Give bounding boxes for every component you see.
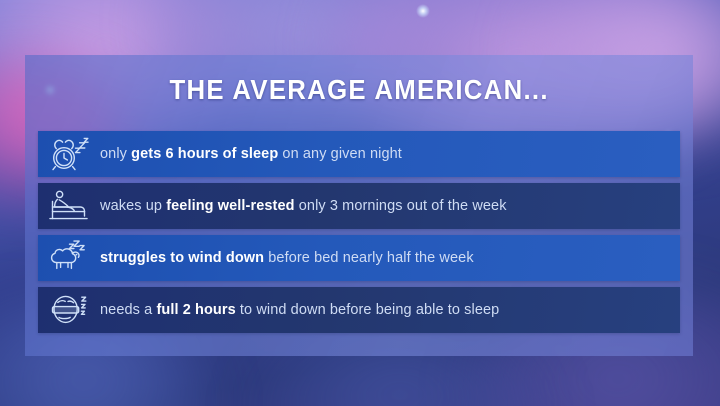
title-band: THE AVERAGE AMERICAN...: [25, 55, 693, 125]
content-panel: THE AVERAGE AMERICAN...: [25, 55, 693, 356]
list-item-text: wakes up feeling well-rested only 3 morn…: [100, 198, 680, 215]
list-item-text: needs a full 2 hours to wind down before…: [100, 302, 680, 319]
infographic-canvas: THE AVERAGE AMERICAN...: [0, 0, 720, 406]
list-item: needs a full 2 hours to wind down before…: [38, 287, 680, 333]
list-item: struggles to wind down before bed nearly…: [38, 235, 680, 281]
sleeping-sheep-zzz-icon: [38, 239, 100, 277]
alarm-clock-zzz-icon: [38, 136, 100, 172]
page-title: THE AVERAGE AMERICAN...: [169, 74, 548, 106]
fact-list: only gets 6 hours of sleep on any given …: [38, 131, 680, 339]
list-item-text: only gets 6 hours of sleep on any given …: [100, 146, 680, 163]
sleep-mask-face-zzz-icon: [38, 292, 100, 328]
list-item-text: struggles to wind down before bed nearly…: [100, 250, 680, 267]
list-item: only gets 6 hours of sleep on any given …: [38, 131, 680, 177]
list-item: wakes up feeling well-rested only 3 morn…: [38, 183, 680, 229]
person-waking-in-bed-icon: [38, 189, 100, 223]
